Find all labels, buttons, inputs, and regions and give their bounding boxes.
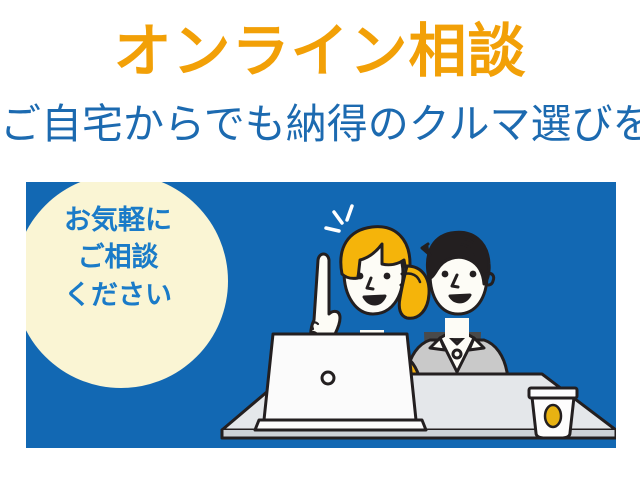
badge-line-3: ください: [26, 277, 216, 314]
page-title: オンライン相談: [0, 22, 640, 80]
page-subtitle: ご自宅からでも納得のクルマ選びを: [0, 104, 640, 145]
coffee-cup: [529, 388, 577, 438]
illustration-panel: お気軽に ご相談 ください: [26, 182, 616, 448]
sparkle-marks: [326, 206, 352, 231]
badge-line-1: お気軽に: [26, 202, 216, 239]
badge-line-2: ご相談: [26, 239, 216, 276]
promo-banner: オンライン相談 ご自宅からでも納得のクルマ選びを: [0, 0, 640, 480]
badge-text: お気軽に ご相談 ください: [26, 202, 216, 314]
laptop: [255, 334, 426, 430]
cup-logo: [545, 405, 561, 427]
